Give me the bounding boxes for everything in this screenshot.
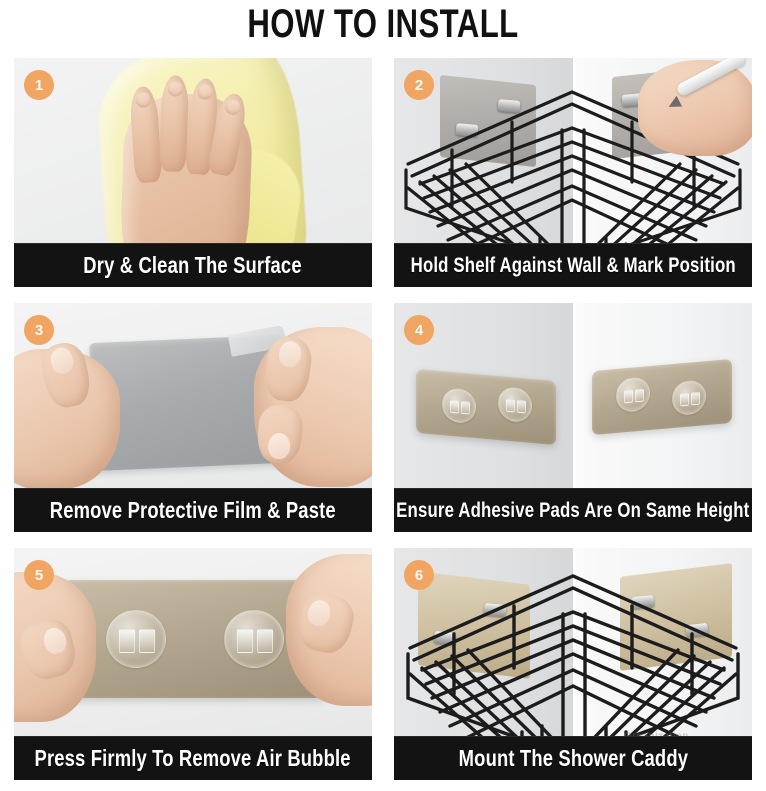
step-number-badge-2: 2 <box>404 70 434 100</box>
step-panel-2[interactable]: 2 Hold Shelf Against Wall & Mark Positio… <box>394 58 752 287</box>
pad-clip <box>119 629 135 653</box>
step-caption-bar-5: Press Firmly To Remove Air Bubble <box>14 736 372 780</box>
thumbnail <box>305 598 333 629</box>
steps-grid: 1 Dry & Clean The Surface <box>14 58 752 778</box>
thumbnail <box>41 625 69 656</box>
pad-clip <box>506 399 515 413</box>
step-number-badge-5: 5 <box>24 560 54 590</box>
right-hand <box>254 327 372 487</box>
page-title: HOW TO INSTALL <box>84 2 681 46</box>
fingernail <box>224 99 242 117</box>
adhesive-pad-left <box>416 369 556 445</box>
fingernail <box>168 81 184 97</box>
thumb <box>294 589 358 658</box>
fingernail <box>197 84 213 100</box>
step-caption-text-6: Mount The Shower Caddy <box>458 745 687 772</box>
pad-clip <box>691 392 700 406</box>
pad-blister <box>442 387 476 424</box>
step-panel-4[interactable]: 4 Ensure Adhesive Pads Are On Same Heigh… <box>394 303 752 532</box>
left-hand <box>14 349 120 489</box>
pad-clip <box>680 393 689 407</box>
step-caption-text-2: Hold Shelf Against Wall & Mark Position <box>410 254 735 278</box>
pad-clip <box>461 401 470 415</box>
step-panel-1[interactable]: 1 Dry & Clean The Surface <box>14 58 372 287</box>
step-number-badge-6: 6 <box>404 560 434 590</box>
step-caption-bar-3: Remove Protective Film & Paste <box>14 488 372 532</box>
pad-clip <box>139 629 155 653</box>
pad-blister <box>672 379 706 416</box>
pad-clip <box>624 390 633 404</box>
pad-blister <box>106 610 166 668</box>
step-caption-bar-4: Ensure Adhesive Pads Are On Same Height <box>394 488 752 532</box>
pad-blister <box>498 386 532 423</box>
pad-blister <box>616 376 650 413</box>
fingernail <box>135 92 151 108</box>
adhesive-pad-right <box>592 359 732 435</box>
step-caption-text-5: Press Firmly To Remove Air Bubble <box>35 745 351 772</box>
finger <box>159 75 189 172</box>
step-caption-text-4: Ensure Adhesive Pads Are On Same Height <box>396 499 749 523</box>
pad-blister <box>224 610 284 668</box>
pad-clip <box>517 400 526 414</box>
pad-clip <box>257 629 273 653</box>
infographic-page: HOW TO INSTALL 1 Dry & Clean The Surface <box>0 0 766 791</box>
fingernail <box>267 432 291 459</box>
step-panel-3[interactable]: 3 Remove Protective Film & Paste <box>14 303 372 532</box>
step-number-badge-1: 1 <box>24 70 54 100</box>
step-panel-6[interactable]: Home Organization 6 Mount The Shower Cad… <box>394 548 752 780</box>
pad-clip <box>635 389 644 403</box>
step-caption-text-1: Dry & Clean The Surface <box>84 252 302 279</box>
pad-clip <box>237 629 253 653</box>
step-panel-5[interactable]: 5 Press Firmly To Remove Air Bubble <box>14 548 372 780</box>
thumb <box>15 614 81 684</box>
thumbnail <box>48 346 75 376</box>
step-number-badge-3: 3 <box>24 315 54 345</box>
finger <box>129 86 163 184</box>
step-caption-text-3: Remove Protective Film & Paste <box>50 497 336 524</box>
step-caption-bar-1: Dry & Clean The Surface <box>14 243 372 287</box>
pad-clip <box>450 400 459 414</box>
finger <box>256 404 304 465</box>
thumbnail <box>277 340 302 369</box>
step-number-badge-4: 4 <box>404 315 434 345</box>
step-caption-bar-2: Hold Shelf Against Wall & Mark Position <box>394 243 752 287</box>
step-caption-bar-6: Mount The Shower Caddy <box>394 736 752 780</box>
